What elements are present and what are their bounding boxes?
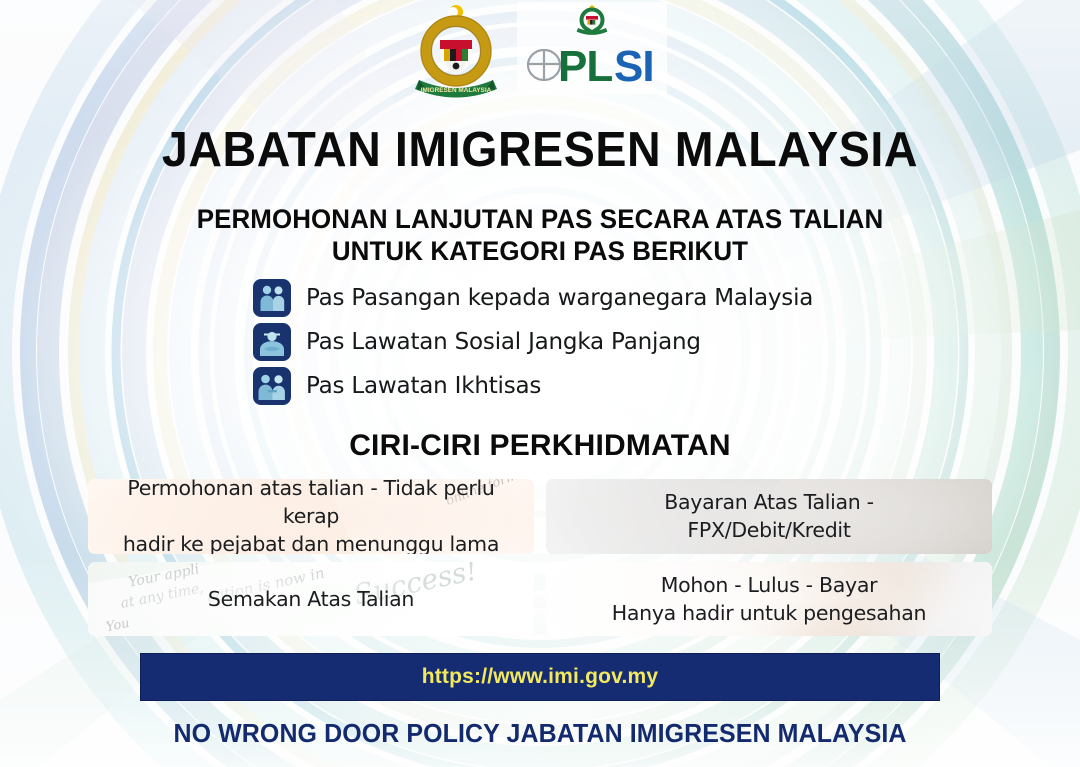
list-item: Pas Pasangan kepada warganegara Malaysia [253,277,853,318]
feature-line2: hadir ke pejabat dan menunggu lama [123,532,499,553]
feature-card-text: Semakan Atas Talian [198,585,424,613]
page-title: JABATAN IMIGRESEN MALAYSIA [27,122,1053,178]
feature-card-online-check: Your appli at any time, cation is now in… [88,562,534,637]
feature-line2: FPX/Debit/Kredit [687,518,850,542]
svg-text:SI: SI [614,42,654,88]
page-subtitle-line1: PERMOHONAN LANJUTAN PAS SECARA ATAS TALI… [197,204,884,234]
person-shield-icon [253,323,291,361]
malaysia-immigration-crest-icon: IMIGRESEN MALAYSIA [413,2,499,102]
feature-line1: Semakan Atas Talian [208,587,414,611]
feature-card-apply-approve-pay: Mohon - Lulus - Bayar Hanya hadir untuk … [546,562,992,637]
pass-category-list: Pas Pasangan kepada warganegara Malaysia… [253,277,853,409]
list-item-label: Pas Lawatan Sosial Jangka Panjang [306,329,701,355]
features-grid: online form Permohonan atas talian - Tid… [88,479,992,636]
feature-line1: Bayaran Atas Talian - [664,490,874,514]
feature-card-online-application: online form Permohonan atas talian - Tid… [88,479,534,554]
features-heading: CIRI-CIRI PERKHIDMATAN [0,429,1080,463]
eplsi-crest-icon [575,4,609,36]
list-item: Pas Lawatan Sosial Jangka Panjang [253,321,853,362]
feature-card-text: Mohon - Lulus - Bayar Hanya hadir untuk … [602,571,936,627]
poster-root: IMIGRESEN MALAYSIA [0,0,1080,767]
couple-icon [253,279,291,317]
list-item-label: Pas Pasangan kepada warganegara Malaysia [306,285,813,311]
list-item-label: Pas Lawatan Ikhtisas [306,373,541,399]
eplsi-logo-icon: PL SI [517,2,667,94]
feature-card-text: Bayaran Atas Talian - FPX/Debit/Kredit [654,488,884,544]
page-subtitle: PERMOHONAN LANJUTAN PAS SECARA ATAS TALI… [22,203,1059,267]
feature-card-text: Permohonan atas talian - Tidak perlu ker… [88,479,534,554]
logo-header: IMIGRESEN MALAYSIA [0,2,1080,112]
page-subtitle-line2: UNTUK KATEGORI PAS BERIKUT [22,235,1059,267]
svg-text:PL: PL [558,42,612,88]
website-url-link[interactable]: https://www.imi.gov.my [422,665,659,689]
list-item: Pas Lawatan Ikhtisas [253,365,853,406]
feature-line1: Mohon - Lulus - Bayar [661,573,878,597]
feature-card-online-payment: Bayaran Atas Talian - FPX/Debit/Kredit [546,479,992,554]
feature-line1: Permohonan atas talian - Tidak perlu ker… [127,479,494,528]
footer-policy-text: NO WRONG DOOR POLICY JABATAN IMIGRESEN M… [22,718,1059,749]
two-people-icon [253,367,291,405]
feature-line2: Hanya hadir untuk pengesahan [612,601,926,625]
website-url-banner[interactable]: https://www.imi.gov.my [140,653,940,701]
eplsi-wordmark-icon: PL SI [522,34,662,88]
svg-text:IMIGRESEN MALAYSIA: IMIGRESEN MALAYSIA [421,87,492,94]
